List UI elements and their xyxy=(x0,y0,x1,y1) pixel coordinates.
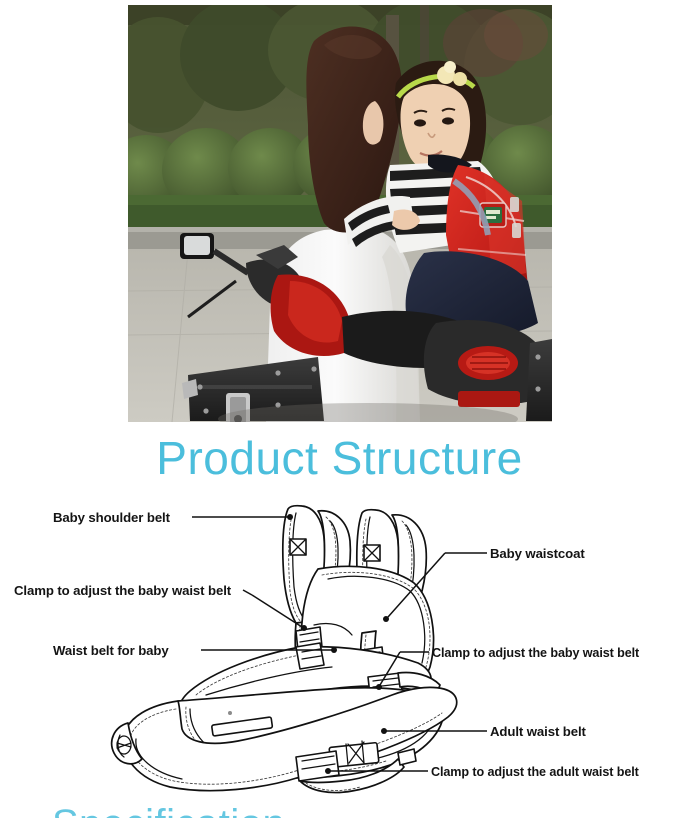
product-structure-diagram: Baby shoulder belt Clamp to adjust the b… xyxy=(0,495,679,795)
label-adult-waist-belt: Adult waist belt xyxy=(490,724,587,739)
label-clamp-baby-waist-belt-right: Clamp to adjust the baby waist belt xyxy=(432,646,640,660)
label-waist-belt-for-baby: Waist belt for baby xyxy=(53,643,169,658)
label-clamp-adult-waist-belt: Clamp to adjust the adult waist belt xyxy=(431,765,640,779)
page-title-specification: Specification xyxy=(0,806,679,818)
label-clamp-baby-waist-belt-left: Clamp to adjust the baby waist belt xyxy=(14,583,232,598)
label-baby-shoulder-belt: Baby shoulder belt xyxy=(53,510,171,525)
specification-heading-clipped: Specification xyxy=(0,806,679,818)
product-photo-image xyxy=(128,5,552,422)
structure-diagram-svg: Baby shoulder belt Clamp to adjust the b… xyxy=(0,495,679,795)
product-photo xyxy=(128,5,552,422)
page-title-product-structure: Product Structure xyxy=(0,432,679,484)
label-baby-waistcoat: Baby waistcoat xyxy=(490,546,585,561)
